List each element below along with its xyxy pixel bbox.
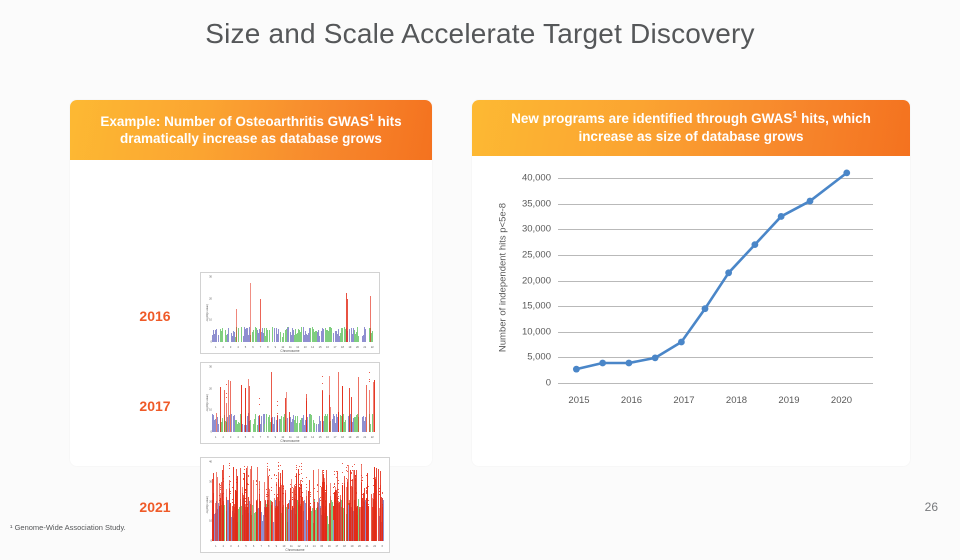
right-header-line1: New programs are identified through GWAS: [511, 111, 792, 126]
manhattan-canvas-2016: [212, 277, 376, 342]
year-label-2021: 2021: [120, 499, 190, 515]
right-panel-header: New programs are identified through GWAS…: [472, 100, 910, 156]
gwas-hits-line-chart: Number of independent hits p<5e-8 05,000…: [472, 156, 910, 466]
manhattan-xlabel-2017: Chromosome: [201, 439, 379, 443]
manhattan-plot-2017: -log10(p-value) 3020100 1234567891011121…: [200, 362, 380, 444]
year-label-2016: 2016: [120, 308, 190, 324]
manhattan-plot-2021: -log10(p-value) 403020100 12345678910111…: [200, 457, 390, 553]
left-header-line1: Example: Number of Osteoarthritis GWAS: [100, 114, 369, 129]
year-label-2017: 2017: [120, 398, 190, 414]
manhattan-yticks-2016: 3020100: [204, 277, 212, 342]
footnote: ¹ Genome-Wide Association Study.: [10, 523, 126, 532]
manhattan-xlabel-2021: Chromosome: [201, 548, 389, 552]
chart-y-axis-label: Number of independent hits p<5e-8: [498, 183, 509, 373]
manhattan-canvas-2021: [212, 462, 386, 541]
manhattan-row-2016: 2016 -log10(p-value) 3020100 12345678910…: [70, 268, 432, 358]
manhattan-yticks-2017: 3020100: [204, 367, 212, 432]
manhattan-yticks-2021: 403020100: [204, 462, 212, 541]
left-panel-header: Example: Number of Osteoarthritis GWAS1 …: [70, 100, 432, 160]
left-panel-card: Example: Number of Osteoarthritis GWAS1 …: [70, 100, 432, 466]
chart-plot-area: 05,00010,00015,00020,00025,00030,00035,0…: [558, 178, 873, 383]
page-title: Size and Scale Accelerate Target Discove…: [0, 18, 960, 50]
manhattan-canvas-2017: [212, 367, 376, 432]
manhattan-plot-2016: -log10(p-value) 3020100 1234567891011121…: [200, 272, 380, 354]
manhattan-xlabel-2016: Chromosome: [201, 349, 379, 353]
right-panel-card: New programs are identified through GWAS…: [472, 100, 910, 466]
chart-line-series: [558, 178, 873, 383]
page-number: 26: [925, 500, 938, 514]
manhattan-row-2021: 2021 -log10(p-value) 403020100 123456789…: [70, 455, 432, 560]
manhattan-row-2017: 2017 -log10(p-value) 3020100 12345678910…: [70, 358, 432, 448]
